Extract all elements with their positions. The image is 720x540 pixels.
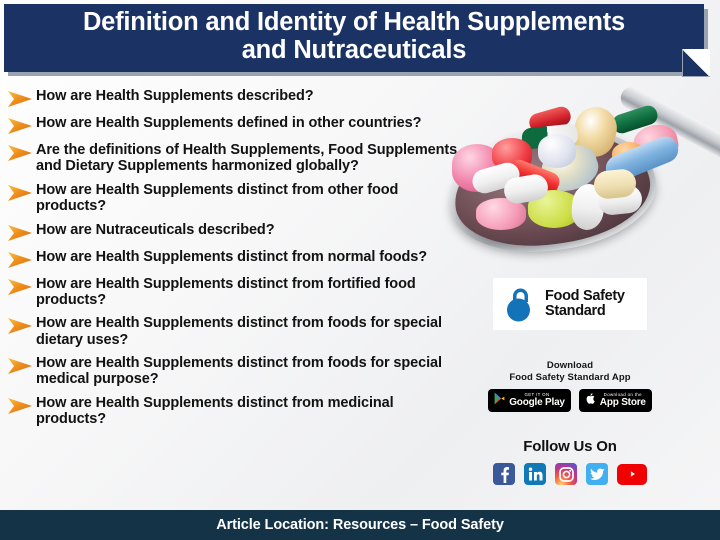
list-item[interactable]: How are Health Supplements defined in ot… — [6, 115, 458, 135]
orange-arrow-icon — [6, 184, 34, 202]
list-item[interactable]: How are Health Supplements distinct from… — [6, 182, 458, 215]
list-item[interactable]: How are Health Supplements distinct from… — [6, 315, 458, 348]
youtube-icon[interactable] — [617, 464, 647, 485]
list-item-label: How are Health Supplements defined in ot… — [34, 115, 421, 131]
title-banner: Definition and Identity of Health Supple… — [4, 4, 704, 72]
logo-line1: Food Safety — [545, 288, 625, 304]
orange-arrow-icon — [6, 117, 34, 135]
list-item-label: How are Health Supplements described? — [34, 88, 314, 104]
food-safety-standard-logo[interactable]: Food Safety Standard — [493, 278, 647, 330]
list-item-label: How are Health Supplements distinct from… — [34, 182, 458, 215]
pill-lavender-tablet — [538, 134, 576, 168]
app-store-badge[interactable]: Download on the App Store — [579, 389, 652, 412]
orange-arrow-icon — [6, 317, 34, 335]
follow-us-heading: Follow Us On — [460, 438, 680, 455]
list-item[interactable]: How are Health Supplements distinct from… — [6, 355, 458, 388]
facebook-icon[interactable] — [493, 463, 515, 485]
download-heading: Download — [460, 360, 680, 371]
slide-canvas: Definition and Identity of Health Supple… — [0, 0, 720, 540]
page-title: Definition and Identity of Health Supple… — [83, 9, 625, 64]
orange-arrow-icon — [6, 224, 34, 242]
footer-bar: Article Location: Resources – Food Safet… — [0, 510, 720, 540]
list-item-label: How are Nutraceuticals described? — [34, 222, 274, 238]
orange-arrow-icon — [6, 357, 34, 375]
list-item-label: How are Health Supplements distinct from… — [34, 276, 458, 309]
google-play-icon — [494, 392, 505, 410]
orange-arrow-icon — [6, 251, 34, 269]
list-item-label: Are the definitions of Health Supplement… — [34, 142, 458, 175]
list-item[interactable]: How are Health Supplements described? — [6, 88, 458, 108]
logo-wordmark: Food Safety Standard — [545, 289, 625, 319]
store-badges: GET IT ON Google Play Download on the Ap… — [460, 389, 680, 412]
download-subheading: Food Safety Standard App — [460, 372, 680, 383]
list-item[interactable]: How are Health Supplements distinct from… — [6, 249, 458, 269]
orange-arrow-icon — [6, 90, 34, 108]
question-list: How are Health Supplements described? Ho… — [6, 88, 458, 435]
instagram-icon[interactable] — [555, 463, 577, 485]
list-item-label: How are Health Supplements distinct from… — [34, 249, 427, 265]
list-item[interactable]: How are Health Supplements distinct from… — [6, 395, 458, 428]
google-play-badge[interactable]: GET IT ON Google Play — [488, 389, 571, 412]
app-store-badge-label: App Store — [600, 398, 646, 408]
apple-icon — [585, 392, 596, 410]
page-title-line1: Definition and Identity of Health Supple… — [83, 8, 625, 36]
twitter-icon[interactable] — [586, 463, 608, 485]
social-icons-row — [460, 463, 680, 485]
list-item[interactable]: How are Health Supplements distinct from… — [6, 276, 458, 309]
follow-us-section: Follow Us On — [460, 438, 680, 485]
download-app-section: Download Food Safety Standard App GET IT… — [460, 360, 680, 412]
logo-line2: Standard — [545, 303, 605, 319]
page-title-line2: and Nutraceuticals — [242, 36, 467, 64]
list-item[interactable]: Are the definitions of Health Supplement… — [6, 142, 458, 175]
list-item[interactable]: How are Nutraceuticals described? — [6, 222, 458, 242]
list-item-label: How are Health Supplements distinct from… — [34, 315, 458, 348]
orange-arrow-icon — [6, 144, 34, 162]
list-item-label: How are Health Supplements distinct from… — [34, 355, 458, 388]
list-item-label: How are Health Supplements distinct from… — [34, 395, 458, 428]
article-location-label: Article Location: Resources – Food Safet… — [216, 517, 504, 533]
linkedin-icon[interactable] — [524, 463, 546, 485]
orange-arrow-icon — [6, 397, 34, 415]
orange-arrow-icon — [6, 278, 34, 296]
google-play-badge-label: Google Play — [509, 398, 565, 408]
spoon-of-pills-photo — [436, 72, 720, 272]
padlock-icon — [504, 286, 537, 322]
